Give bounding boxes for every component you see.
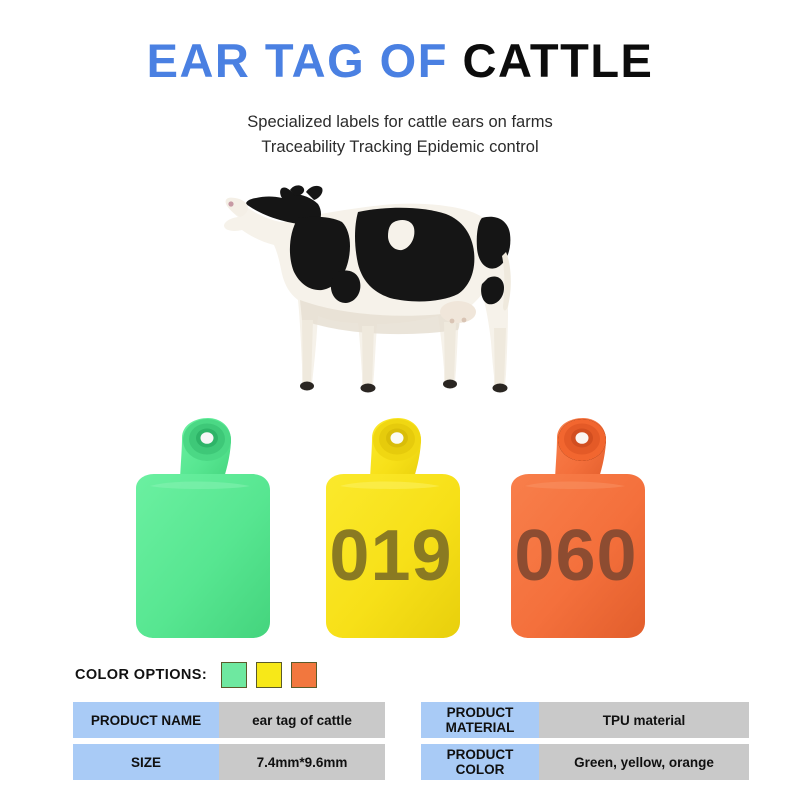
color-options-row: COLOR OPTIONS:	[75, 662, 317, 688]
spec-column-gap	[385, 702, 421, 738]
page-title-blue: EAR TAG OF	[147, 34, 463, 87]
holstein-cow-photo	[190, 160, 610, 405]
color-swatch-green[interactable]	[221, 662, 247, 688]
page-header: EAR TAG OF CATTLE	[0, 36, 800, 85]
subtitle-line-2: Traceability Tracking Epidemic control	[0, 135, 800, 160]
color-options-label: COLOR OPTIONS:	[75, 667, 207, 683]
spec-key-product-material: PRODUCT MATERIAL	[421, 702, 539, 738]
spec-key-size: SIZE	[73, 744, 219, 780]
ear-tag-green[interactable]	[110, 402, 292, 644]
spec-key-product-name: PRODUCT NAME	[73, 702, 219, 738]
color-swatch-orange[interactable]	[291, 662, 317, 688]
ear-tag-yellow[interactable]: 019	[300, 402, 482, 644]
ear-tag-showcase: 019 060	[110, 402, 670, 647]
page-subtitle: Specialized labels for cattle ears on fa…	[0, 110, 800, 160]
subtitle-line-1: Specialized labels for cattle ears on fa…	[0, 110, 800, 135]
color-swatch-yellow[interactable]	[256, 662, 282, 688]
cow-photo-panel	[190, 160, 610, 405]
specification-table: PRODUCT NAME ear tag of cattle PRODUCT M…	[73, 702, 791, 780]
page-title: EAR TAG OF CATTLE	[0, 36, 800, 85]
spec-value-product-material: TPU material	[539, 702, 749, 738]
ear-tag-orange[interactable]: 060	[485, 402, 667, 644]
spec-value-product-color: Green, yellow, orange	[539, 744, 749, 780]
spec-column-gap-2	[385, 744, 421, 780]
spec-value-product-name: ear tag of cattle	[219, 702, 385, 738]
spec-key-product-color: PRODUCT COLOR	[421, 744, 539, 780]
ear-tag-orange-number: 060	[485, 520, 667, 592]
page-title-black: CATTLE	[463, 34, 654, 87]
spec-value-size: 7.4mm*9.6mm	[219, 744, 385, 780]
ear-tag-yellow-number: 019	[300, 520, 482, 592]
